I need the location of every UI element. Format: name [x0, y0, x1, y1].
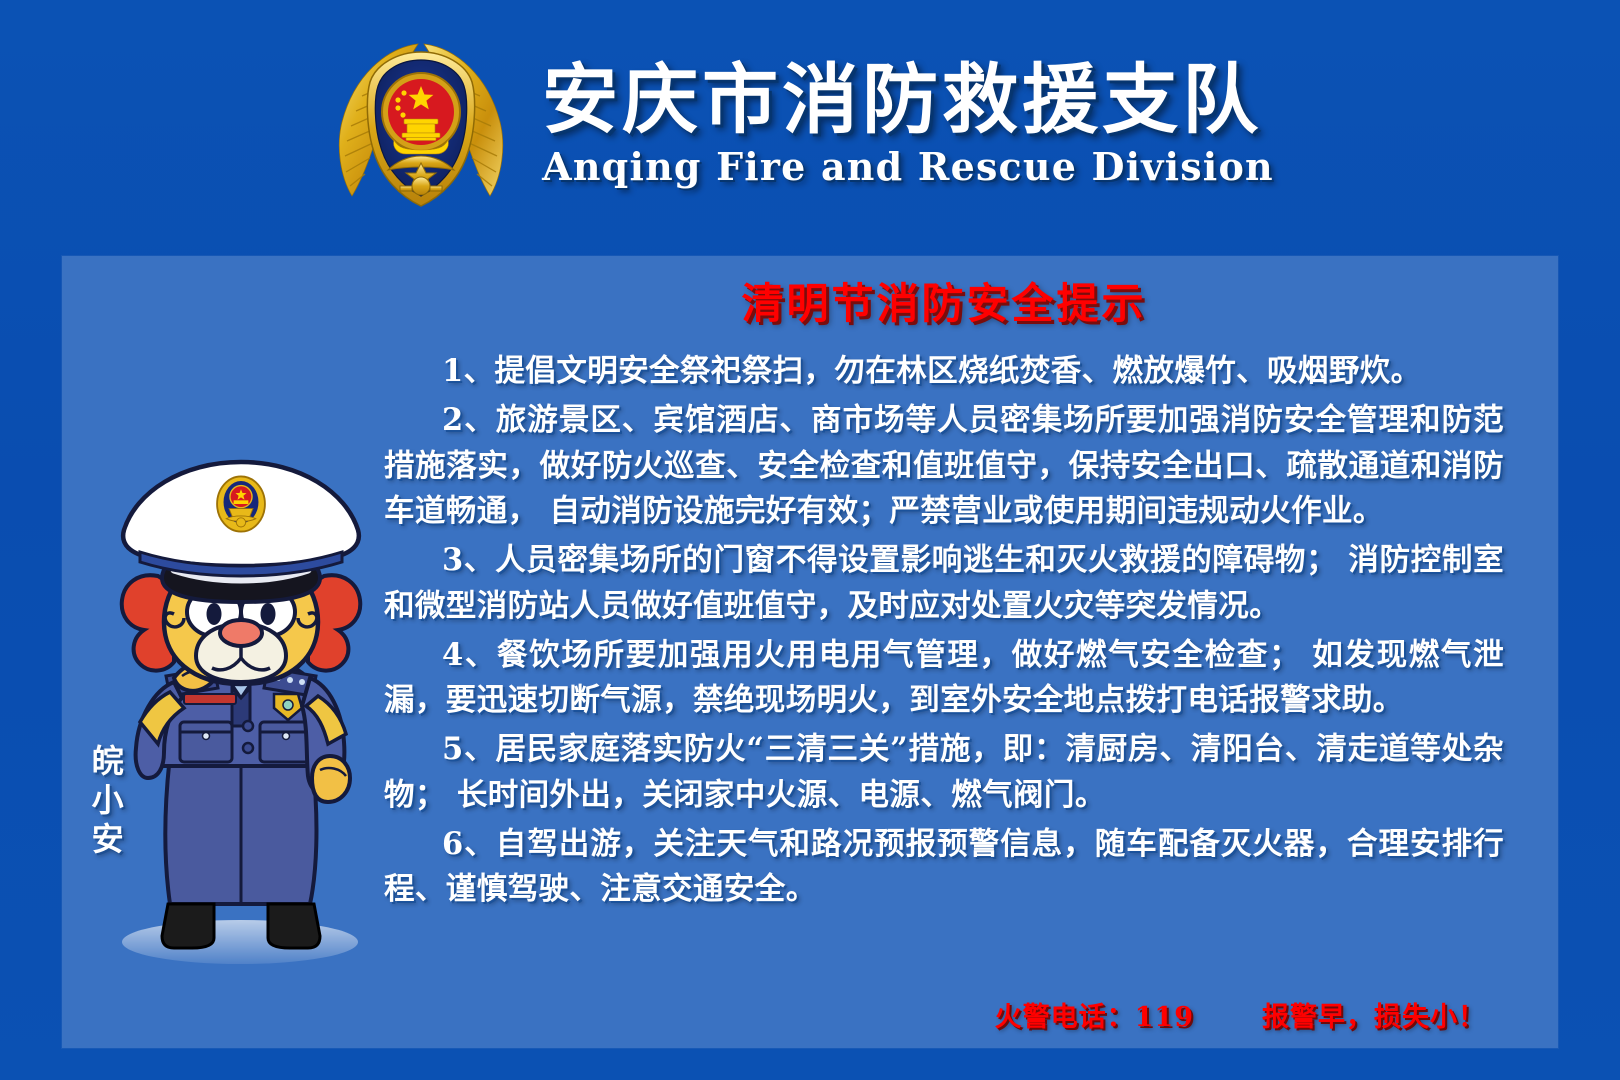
poster-root: 安庆市消防救援支队 Anqing Fire and Rescue Divisio…: [0, 0, 1620, 1080]
organization-name-cn: 安庆市消防救援支队: [542, 61, 1262, 139]
notice-block: 清明节消防安全提示 1、提倡文明安全祭祀祭扫，勿在林区烧纸焚香、燃放爆竹、吸烟野…: [384, 270, 1504, 916]
notice-item: 5、居民家庭落实防火“三清三关”措施，即：清厨房、清阳台、清走道等处杂物； 长时…: [384, 727, 1504, 819]
notice-item: 1、提倡文明安全祭祀祭扫，勿在林区烧纸焚香、燃放爆竹、吸烟野炊。: [384, 349, 1504, 395]
mascot-illustration: 皖小安: [62, 426, 392, 1046]
mascot-name-label: 皖小安: [84, 744, 126, 861]
notice-item: 6、自驾出游，关注天气和路况预报预警信息，随车配备灭火器，合理安排行程、谨慎驾驶…: [384, 822, 1504, 914]
footer-slogan: 报警早，损失小！: [1262, 995, 1486, 1034]
content-panel: 皖小安 清明节消防安全提示 1、提倡文明安全祭祀祭扫，勿在林区烧纸焚香、燃放爆竹…: [62, 256, 1558, 1048]
notice-list: 1、提倡文明安全祭祀祭扫，勿在林区烧纸焚香、燃放爆竹、吸烟野炊。 2、旅游景区、…: [384, 349, 1504, 913]
notice-item: 2、旅游景区、宾馆酒店、商市场等人员密集场所要加强消防安全管理和防范措施落实，做…: [384, 398, 1504, 535]
poster-header: 安庆市消防救援支队 Anqing Fire and Rescue Divisio…: [0, 0, 1620, 250]
notice-item: 4、餐饮场所要加强用火用电用气管理，做好燃气安全检查； 如发现燃气泄漏，要迅速切…: [384, 633, 1504, 725]
fire-phone-label: 火警电话：119: [995, 995, 1194, 1034]
notice-item: 3、人员密集场所的门窗不得设置影响逃生和灭火救援的障碍物； 消防控制室和微型消防…: [384, 538, 1504, 630]
china-fire-rescue-emblem-icon: [326, 36, 516, 214]
poster-footer: 火警电话：119 报警早，损失小！: [384, 995, 1504, 1034]
notice-title: 清明节消防安全提示: [384, 270, 1504, 331]
organization-name-en: Anqing Fire and Rescue Division: [542, 144, 1274, 189]
header-titles: 安庆市消防救援支队 Anqing Fire and Rescue Divisio…: [542, 61, 1274, 190]
